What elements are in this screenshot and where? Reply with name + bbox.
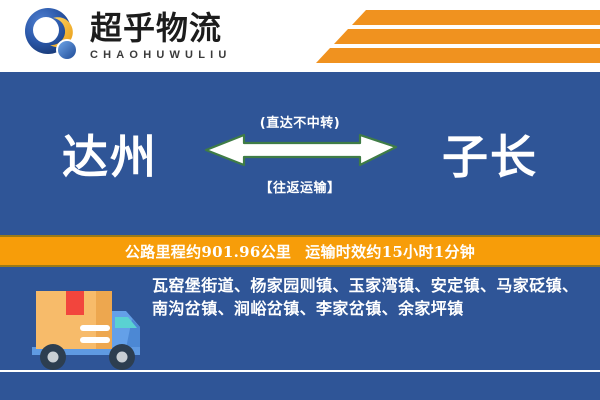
route-info-bar: 公路里程约901.96公里运输时效约15小时1分钟 (0, 235, 600, 267)
coverage-section: 瓦窑堡街道、杨家园则镇、玉家湾镇、安定镇、马家砭镇、南沟岔镇、涧峪岔镇、李家岔镇… (0, 267, 600, 400)
coverage-areas-text: 瓦窑堡街道、杨家园则镇、玉家湾镇、安定镇、马家砭镇、南沟岔镇、涧峪岔镇、李家岔镇… (152, 275, 584, 320)
bottom-divider (0, 370, 600, 372)
banner-header: 超乎物流 CHAOHUWULIU (0, 0, 600, 72)
circular-q-logo-icon (22, 6, 82, 66)
route-section: 达州 (直达不中转) 【往返运输】 子长 (0, 72, 600, 235)
bidirectional-arrow-icon (185, 133, 415, 173)
company-name-en: CHAOHUWULIU (90, 49, 232, 61)
delivery-truck-icon (16, 281, 144, 373)
duration-label: 运输时效约15小时1分钟 (305, 243, 475, 261)
route-arrow-group: (直达不中转) 【往返运输】 (185, 112, 415, 196)
company-name-cn: 超乎物流 (90, 11, 232, 46)
distance-label: 公路里程约901.96公里 (125, 243, 291, 261)
round-trip-note: 【往返运输】 (185, 177, 415, 196)
orange-speed-stripes-icon (310, 0, 600, 72)
origin-city: 达州 (62, 121, 158, 187)
company-logo: 超乎物流 CHAOHUWULIU (22, 6, 232, 66)
logistics-route-banner: 超乎物流 CHAOHUWULIU 达州 (直达不中转) 【往返运输】 子长 (0, 0, 600, 400)
company-logo-text: 超乎物流 CHAOHUWULIU (90, 11, 232, 61)
direct-shipping-note: (直达不中转) (185, 112, 415, 131)
destination-city: 子长 (442, 121, 538, 187)
info-bar-content: 公路里程约901.96公里运输时效约15小时1分钟 (125, 241, 475, 262)
